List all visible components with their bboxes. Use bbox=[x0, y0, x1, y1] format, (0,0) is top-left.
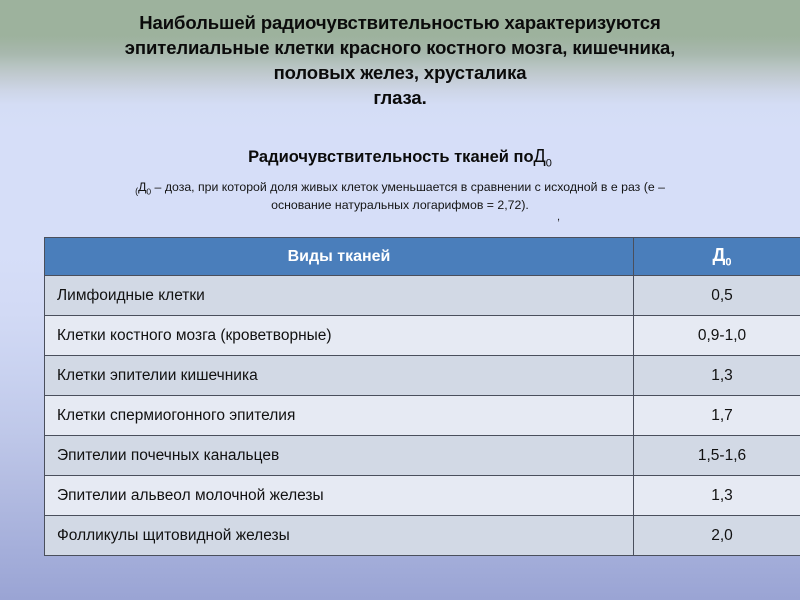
table-row: Лимфоидные клетки0,5 bbox=[45, 276, 800, 316]
table-row: Эпителии альвеол молочной железы1,3 bbox=[45, 476, 800, 516]
slide-canvas: Наибольшей радиочувствительностью характ… bbox=[0, 0, 800, 600]
title-line-3: половых желез, хрусталика bbox=[40, 60, 760, 85]
column-header-tissue-type: Виды тканей bbox=[45, 238, 634, 276]
table-header-row: Виды тканей Д0 bbox=[45, 238, 800, 276]
radiosensitivity-table: Виды тканей Д0 Лимфоидные клетки0,5Клетк… bbox=[44, 237, 800, 556]
cell-d0-value: 1,3 bbox=[634, 476, 800, 516]
table-row: Клетки эпителии кишечника1,3 bbox=[45, 356, 800, 396]
cell-tissue-type: Клетки спермиогонного эпителия bbox=[45, 396, 634, 436]
cell-d0-value: 0,5 bbox=[634, 276, 800, 316]
section-heading-text: Радиочувствительность тканей по bbox=[248, 148, 533, 166]
section-heading-subscript: 0 bbox=[546, 158, 552, 170]
section-heading-symbol-letter: Д bbox=[534, 146, 546, 166]
cell-d0-value: 2,0 bbox=[634, 516, 800, 556]
table-row: Эпителии почечных канальцев1,5-1,6 bbox=[45, 436, 800, 476]
title-line-4: глаза. bbox=[40, 85, 760, 110]
cell-tissue-type: Фолликулы щитовидной железы bbox=[45, 516, 634, 556]
table-row: Фолликулы щитовидной железы2,0 bbox=[45, 516, 800, 556]
table-body: Лимфоидные клетки0,5Клетки костного мозг… bbox=[45, 276, 800, 556]
cell-tissue-type: Лимфоидные клетки bbox=[45, 276, 634, 316]
note-line-2: основание натуральных логарифмов = 2,72)… bbox=[0, 198, 800, 212]
title-line-1: Наибольшей радиочувствительностью характ… bbox=[40, 10, 760, 35]
stray-comma-mark: , bbox=[557, 211, 560, 223]
column-header-d0-letter: Д bbox=[713, 245, 726, 265]
note-line-1-rest: – доза, при которой доля живых клеток ум… bbox=[151, 180, 665, 194]
table-head: Виды тканей Д0 bbox=[45, 238, 800, 276]
section-heading-symbol: Д0 bbox=[534, 146, 552, 166]
cell-d0-value: 1,3 bbox=[634, 356, 800, 396]
cell-d0-value: 1,5-1,6 bbox=[634, 436, 800, 476]
cell-tissue-type: Клетки эпителии кишечника bbox=[45, 356, 634, 396]
cell-tissue-type: Эпителии почечных канальцев bbox=[45, 436, 634, 476]
cell-tissue-type: Клетки костного мозга (кроветворные) bbox=[45, 316, 634, 356]
slide-title: Наибольшей радиочувствительностью характ… bbox=[40, 10, 760, 110]
cell-tissue-type: Эпителии альвеол молочной железы bbox=[45, 476, 634, 516]
column-header-d0: Д0 bbox=[634, 238, 800, 276]
table-row: Клетки костного мозга (кроветворные)0,9-… bbox=[45, 316, 800, 356]
cell-d0-value: 1,7 bbox=[634, 396, 800, 436]
cell-d0-value: 0,9-1,0 bbox=[634, 316, 800, 356]
column-header-d0-subscript: 0 bbox=[725, 256, 731, 268]
section-heading: Радиочувствительность тканей поД0 bbox=[0, 145, 800, 175]
title-line-2: эпителиальные клетки красного костного м… bbox=[40, 35, 760, 60]
table-row: Клетки спермиогонного эпителия1,7 bbox=[45, 396, 800, 436]
